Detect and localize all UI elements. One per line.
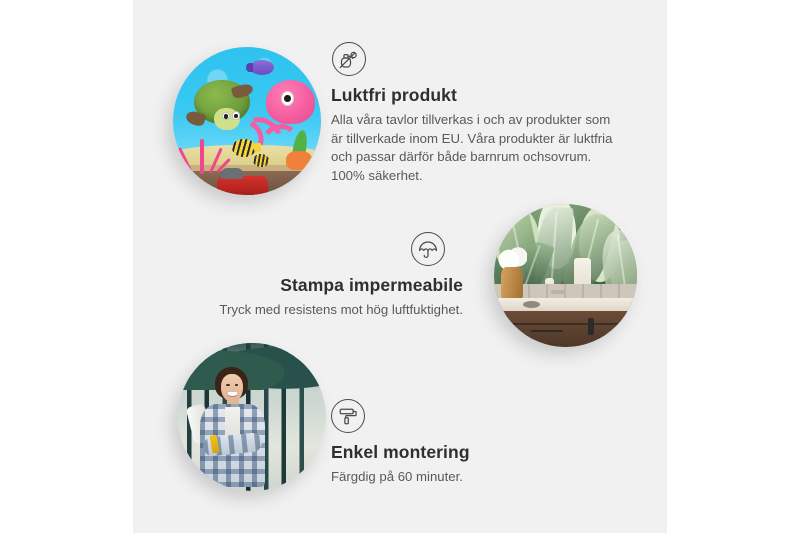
blue-fish-shape bbox=[250, 60, 274, 75]
no-fragrance-icon bbox=[332, 42, 366, 76]
yellow-fish-shape bbox=[232, 139, 256, 157]
bathroom-artwork bbox=[494, 204, 637, 347]
feature-luktfri-produkt: Luktfri produkt Alla våra tavlor tillver… bbox=[331, 42, 621, 186]
feature-body: Färgdig på 60 minuter. bbox=[331, 468, 601, 487]
feature-body: Tryck med resistens mot hög luftfuktighe… bbox=[210, 301, 463, 320]
feature-title: Stampa impermeabile bbox=[210, 275, 463, 296]
feature-title: Enkel montering bbox=[331, 442, 601, 463]
umbrella-icon bbox=[411, 232, 445, 266]
feature-title: Luktfri produkt bbox=[331, 85, 621, 106]
feature-stampa-impermeabile: Stampa impermeabile Tryck med resistens … bbox=[210, 232, 463, 320]
coral-shape bbox=[182, 130, 223, 174]
product-image-bathroom-leaves[interactable] bbox=[494, 204, 637, 347]
woman-forest-artwork bbox=[178, 343, 326, 491]
feature-body: Alla våra tavlor tillverkas i och av pro… bbox=[331, 111, 621, 186]
vanity-shape bbox=[494, 311, 637, 347]
product-image-underwater-scene[interactable] bbox=[173, 47, 321, 195]
feature-enkel-montering: Enkel montering Färgdig på 60 minuter. bbox=[331, 399, 601, 487]
product-image-woman-wallpaper[interactable] bbox=[178, 343, 326, 491]
infographic-canvas: Luktfri produkt Alla våra tavlor tillver… bbox=[0, 0, 800, 533]
paint-roller-icon bbox=[331, 399, 365, 433]
underwater-artwork bbox=[173, 47, 321, 195]
